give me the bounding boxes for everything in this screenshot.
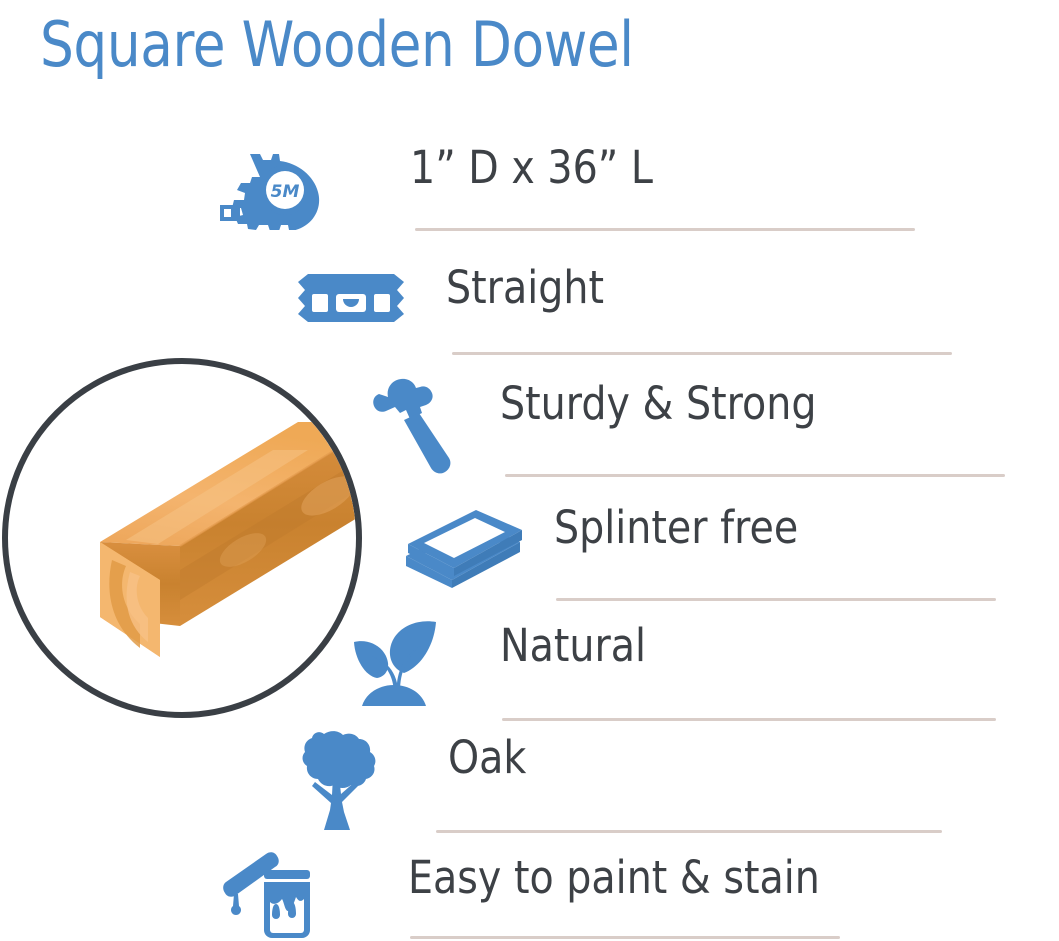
tape-measure-value: 5M [271, 182, 300, 202]
feature-divider [410, 936, 840, 939]
feature-divider [556, 598, 996, 601]
tree-icon [292, 730, 380, 832]
sprout-icon [348, 618, 440, 708]
feature-divider [436, 830, 942, 833]
spirit-level-icon [296, 272, 406, 334]
feature-label: Easy to paint & stain [408, 850, 820, 906]
paint-can-brush-icon [220, 848, 324, 940]
hammer-icon [352, 378, 452, 476]
feature-divider [452, 352, 952, 355]
feature-divider [505, 474, 1005, 477]
feature-label: Straight [446, 260, 604, 316]
product-infographic: Square Wooden Dowel [0, 0, 1059, 941]
wood-planks-icon [402, 500, 524, 592]
feature-label: Splinter free [554, 500, 798, 556]
square-wooden-dowel-illustration [8, 364, 356, 712]
feature-divider [502, 718, 996, 721]
product-image-circle [2, 358, 362, 718]
feature-label: 1” D x 36” L [410, 140, 653, 196]
feature-label: Oak [448, 730, 526, 786]
tape-measure-icon: 5M [216, 150, 322, 230]
feature-label: Sturdy & Strong [500, 376, 817, 432]
feature-divider [415, 228, 915, 231]
page-title: Square Wooden Dowel [40, 6, 634, 84]
feature-label: Natural [500, 618, 646, 674]
